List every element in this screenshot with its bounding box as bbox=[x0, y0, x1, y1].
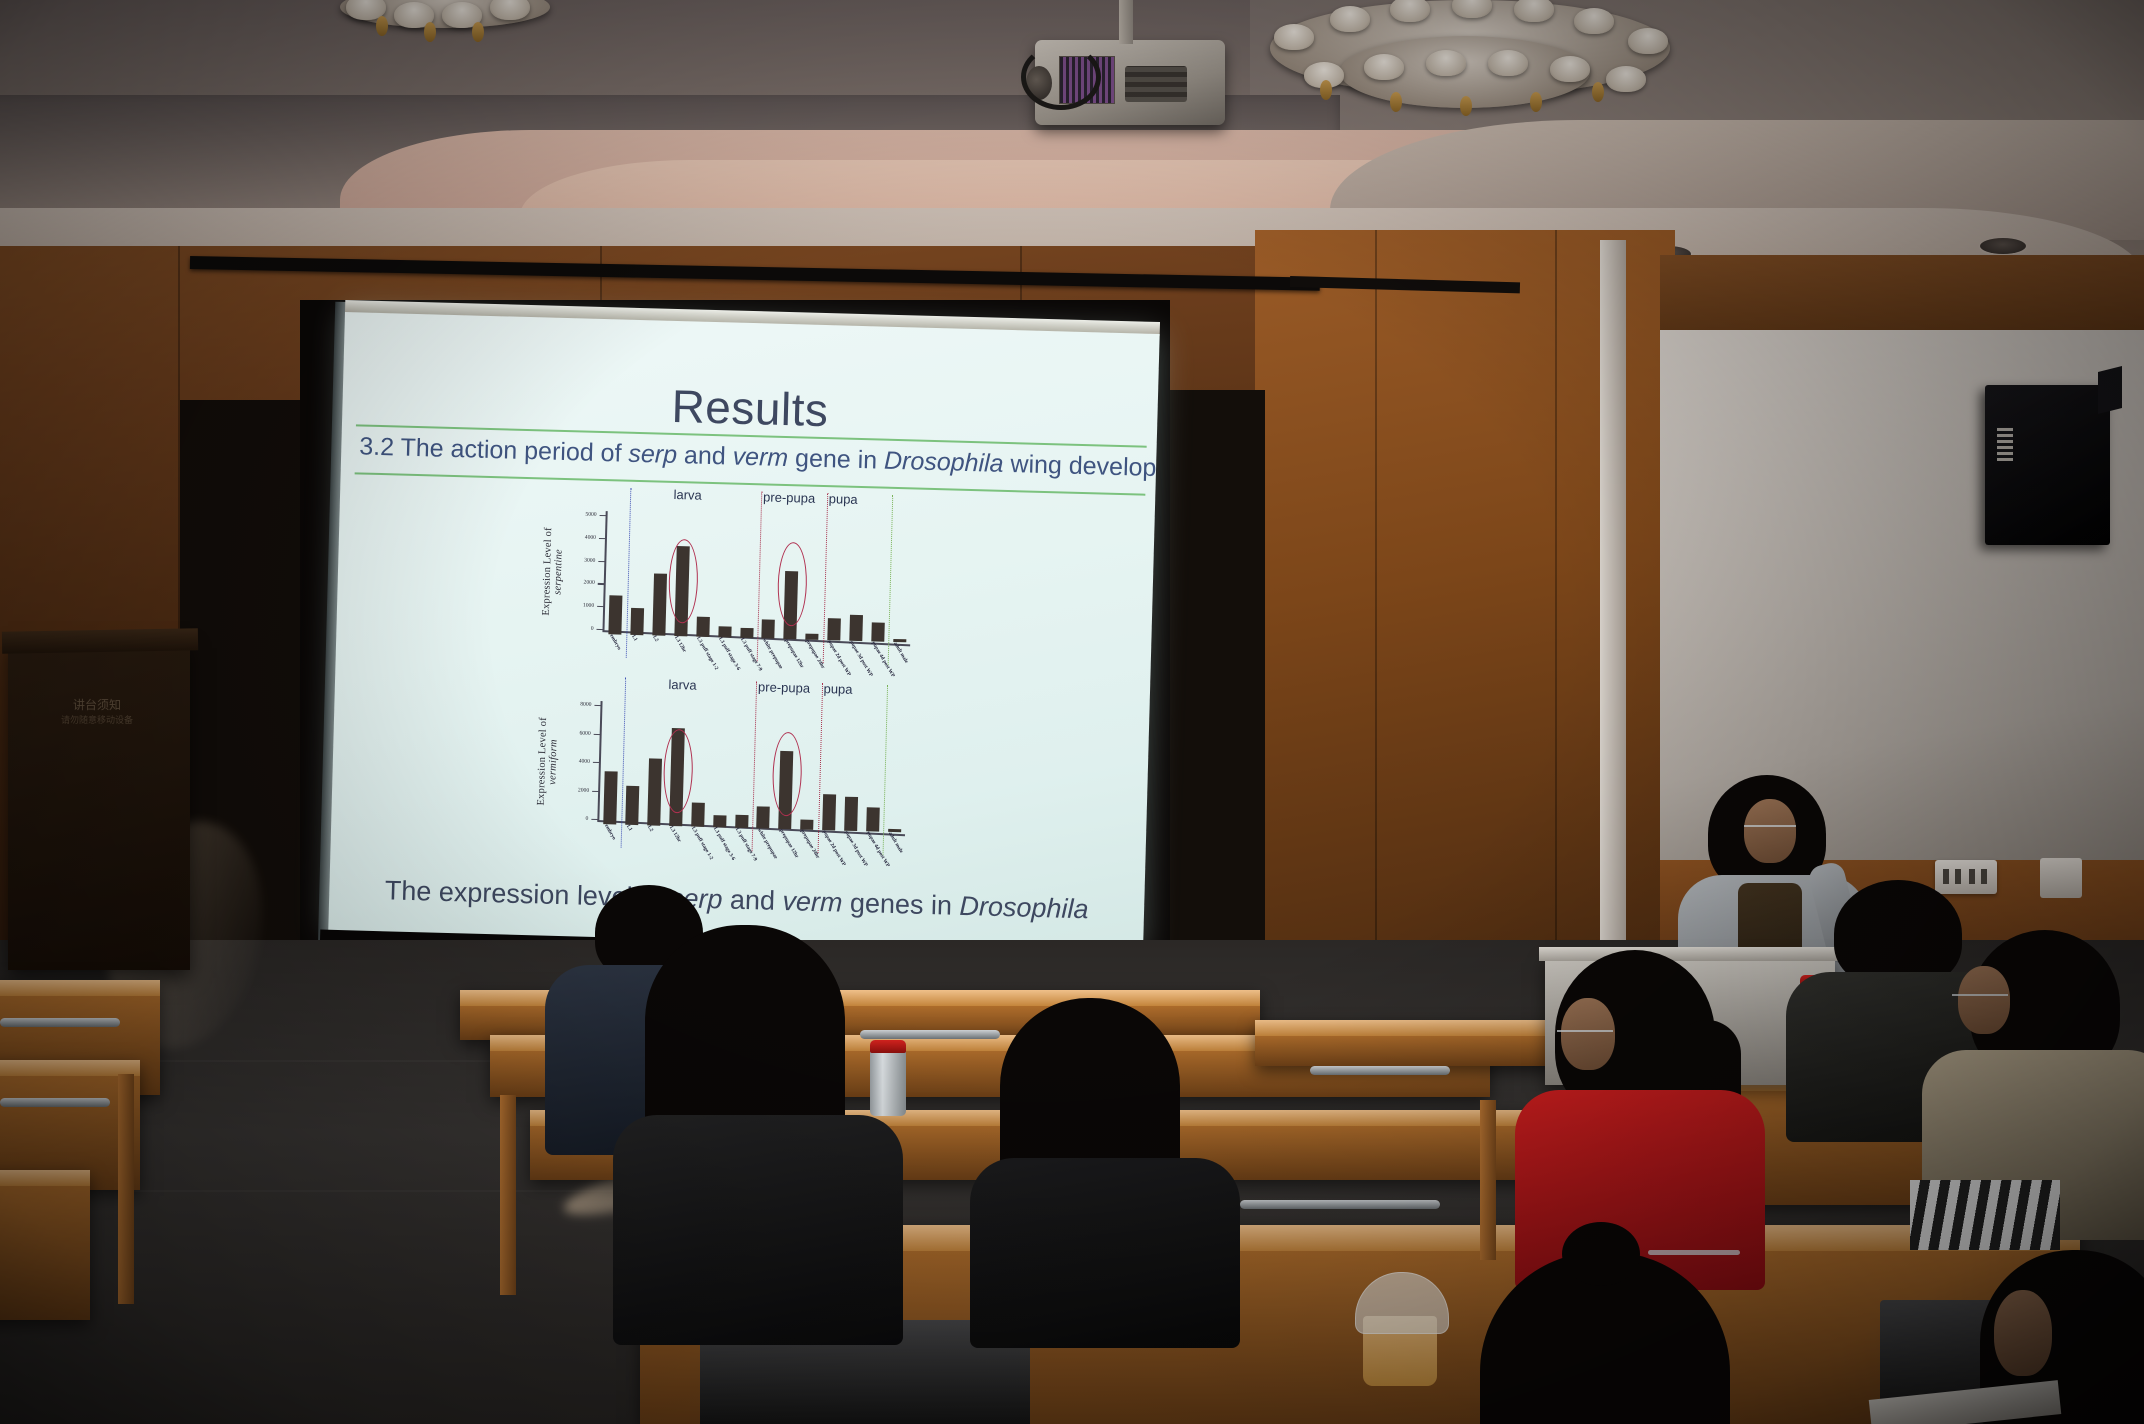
chandelier-arm bbox=[1320, 80, 1332, 100]
projector-cable bbox=[1021, 44, 1101, 110]
projector-ports bbox=[1125, 66, 1187, 102]
chandelier-shade bbox=[1488, 50, 1528, 76]
x-tick-label: pupae 2d post WP bbox=[826, 639, 852, 677]
subtitle-prefix: 3.2 The action period of bbox=[359, 432, 629, 467]
x-tick-label: L3 puff stage 3-6 bbox=[712, 826, 736, 861]
y-tick: 3000 bbox=[598, 561, 605, 562]
caption-suffix: genes in bbox=[842, 888, 960, 921]
chart0-ylabel: Expression Level of serpentine bbox=[540, 505, 562, 637]
y-tick-label: 8000 bbox=[580, 702, 591, 708]
chair-back-rail bbox=[0, 1018, 120, 1027]
chandelier-arm bbox=[1390, 92, 1402, 112]
chandelier-shade bbox=[1628, 28, 1668, 54]
subtitle-suffix: gene in bbox=[788, 444, 885, 475]
lectern-top bbox=[2, 628, 198, 653]
chart-serpentine: Expression Level of serpentine embryoL1L… bbox=[545, 506, 940, 706]
chandelier-arm bbox=[376, 16, 388, 36]
projection-screen: Results 3.2 The action period of serp an… bbox=[328, 312, 1160, 979]
y-tick: 2000 bbox=[592, 790, 599, 791]
x-tick-label: pupae 4d post WP bbox=[870, 640, 896, 678]
chandelier-shade bbox=[1550, 56, 1590, 82]
y-tick: 4000 bbox=[599, 538, 606, 539]
chandelier-shade bbox=[1426, 50, 1466, 76]
x-tick-label: prepupae 12hr bbox=[783, 638, 805, 669]
subtitle-gene-serp: serp bbox=[628, 440, 677, 469]
y-tick-label: 3000 bbox=[584, 557, 595, 563]
audience-face bbox=[1958, 966, 2010, 1034]
x-tick-label: pupae 2d post WP bbox=[821, 829, 847, 867]
subtitle-end: wing development bbox=[1003, 450, 1160, 484]
chart0-plot: embryoL1L2L3 12hrL3 puff stage 1-2L3 puf… bbox=[580, 511, 913, 644]
x-tick-label: L2 bbox=[647, 824, 655, 832]
y-tick-label: 6000 bbox=[579, 730, 590, 736]
wall-speaker bbox=[1985, 385, 2110, 545]
subtitle-gene-verm: verm bbox=[732, 443, 788, 472]
chandelier-arm bbox=[1460, 96, 1472, 116]
stage-label-larva: larva bbox=[668, 677, 697, 693]
caption-mid: and bbox=[722, 884, 783, 916]
chart-vermiform: Expression Level of vermiform embryoL1L2… bbox=[540, 696, 935, 896]
y-tick: 0 bbox=[591, 819, 598, 820]
stage-label-pre-pupa: pre-pupa bbox=[763, 489, 815, 505]
lectern-plaque-sub: 请勿随意移动设备 bbox=[32, 713, 162, 728]
speaker-grille-icon bbox=[1997, 427, 2013, 461]
chandelier-arm bbox=[472, 22, 484, 42]
caption-gene-verm: verm bbox=[782, 886, 843, 918]
y-tick: 4000 bbox=[593, 762, 600, 763]
x-tick-label: L3 puff stage 7-9 bbox=[734, 827, 758, 862]
presenter-face bbox=[1744, 799, 1796, 863]
audience-coat bbox=[970, 1158, 1240, 1348]
chandelier-shade bbox=[1330, 6, 1370, 32]
bar bbox=[625, 786, 639, 826]
x-tick-label: L3 puff stage 1-2 bbox=[695, 636, 719, 671]
audience-hair-bun bbox=[1562, 1222, 1640, 1286]
subtitle-species: Drosophila bbox=[884, 447, 1004, 478]
stage-label-pre-pupa: pre-pupa bbox=[758, 679, 810, 695]
chandelier-shade bbox=[1574, 8, 1614, 34]
wall-outlet-secondary bbox=[2040, 858, 2082, 898]
wall-wood-upper-right bbox=[1660, 255, 2144, 341]
subtitle-mid: and bbox=[677, 441, 733, 470]
x-tick-label: embryo bbox=[603, 823, 617, 841]
x-tick-label: L3 puff stage 3-6 bbox=[717, 636, 741, 671]
y-tick: 6000 bbox=[594, 733, 601, 734]
chandelier-shade bbox=[1514, 0, 1554, 22]
caption-species: Drosophila bbox=[959, 891, 1089, 924]
bar bbox=[647, 758, 662, 826]
desk-row3-left bbox=[0, 1170, 90, 1320]
bar bbox=[822, 794, 836, 831]
chandelier-shade bbox=[1606, 66, 1646, 92]
chandelier-shade bbox=[1364, 54, 1404, 80]
x-tick-label: adult male bbox=[892, 641, 909, 664]
lectern: 讲台须知 请勿随意移动设备 bbox=[8, 640, 190, 970]
chart1-ylabel: Expression Level of vermiform bbox=[535, 695, 557, 827]
chandelier-arm bbox=[424, 22, 436, 42]
plastic-bag bbox=[1355, 1272, 1449, 1334]
y-tick-label: 4000 bbox=[579, 758, 590, 764]
downlight-icon bbox=[1980, 238, 2026, 254]
chandelier-arm bbox=[1530, 92, 1542, 112]
wall-pipe-trim bbox=[1600, 240, 1626, 940]
glasses-icon bbox=[1952, 994, 2008, 996]
chair-back-rail bbox=[0, 1098, 110, 1107]
x-tick-label: white prepupae bbox=[756, 827, 779, 860]
y-tick-label: 0 bbox=[591, 626, 594, 632]
y-tick: 8000 bbox=[594, 705, 601, 706]
audience-face bbox=[1994, 1290, 2052, 1376]
lectern-plaque: 讲台须知 请勿随意移动设备 bbox=[32, 698, 162, 758]
y-tick: 5000 bbox=[600, 515, 607, 516]
glasses-icon bbox=[1648, 1250, 1740, 1255]
y-tick: 1000 bbox=[597, 606, 604, 607]
stage-label-larva: larva bbox=[673, 487, 702, 503]
x-tick-label: pupae 3d post WP bbox=[843, 830, 869, 868]
chandelier-shade bbox=[490, 0, 530, 20]
y-tick: 0 bbox=[596, 629, 603, 630]
lectern-plaque-title: 讲台须知 bbox=[32, 698, 162, 713]
desk-leg bbox=[1480, 1100, 1496, 1260]
y-tick: 2000 bbox=[598, 583, 605, 584]
bar bbox=[604, 771, 619, 825]
thermos-desk bbox=[870, 1040, 906, 1116]
desk-right-back bbox=[1255, 1020, 1555, 1066]
audience-face bbox=[1561, 998, 1615, 1070]
x-tick-label: L3 12hr bbox=[674, 635, 688, 653]
takeaway-cup-bag bbox=[1355, 1272, 1455, 1402]
glasses-icon bbox=[1557, 1030, 1613, 1032]
glasses-icon bbox=[1744, 825, 1796, 827]
slide: Results 3.2 The action period of serp an… bbox=[328, 312, 1159, 954]
x-tick-label: pupae 4d post WP bbox=[865, 830, 891, 868]
chart1-ylabel-italic: vermiform bbox=[547, 739, 559, 785]
speaker-bracket bbox=[2098, 366, 2122, 414]
x-tick-label: L3 puff stage 7-9 bbox=[739, 637, 763, 672]
chart0-ylabel-italic: serpentine bbox=[552, 549, 564, 595]
desk-leg bbox=[118, 1074, 134, 1304]
chair-back-rail bbox=[860, 1030, 1000, 1039]
x-tick-label: adult male bbox=[887, 831, 904, 854]
y-tick-label: 2000 bbox=[583, 580, 594, 586]
wall-outlet bbox=[1935, 860, 1997, 894]
y-tick-label: 2000 bbox=[578, 787, 589, 793]
y-tick-label: 4000 bbox=[585, 534, 596, 540]
bar bbox=[609, 595, 623, 635]
chair-back-rail bbox=[1240, 1200, 1440, 1209]
y-tick-label: 0 bbox=[586, 816, 589, 822]
chart1-plot: embryoL1L2L3 12hrL3 puff stage 1-2L3 puf… bbox=[575, 700, 908, 833]
x-tick-label: prepupae 12hr bbox=[778, 828, 800, 859]
x-tick-label: white prepupae bbox=[761, 638, 784, 671]
stage-label-pupa: pupa bbox=[823, 681, 852, 697]
audience-striped-garment bbox=[1910, 1180, 2060, 1250]
x-tick-label: pupae 3d post WP bbox=[848, 640, 874, 678]
x-tick-label: L1 bbox=[625, 824, 633, 832]
x-tick-label: L3 12hr bbox=[668, 825, 682, 843]
x-tick-label: embryo bbox=[608, 633, 622, 651]
ceiling-projector bbox=[1035, 40, 1225, 125]
chandelier-arm bbox=[1592, 82, 1604, 102]
chandelier-shade bbox=[1274, 24, 1314, 50]
y-tick-label: 5000 bbox=[585, 512, 596, 518]
x-tick-label: L1 bbox=[630, 634, 638, 642]
stage-label-pupa: pupa bbox=[829, 491, 858, 507]
lecture-hall-photo: Results 3.2 The action period of serp an… bbox=[0, 0, 2144, 1424]
bar bbox=[844, 796, 858, 831]
projector-mount bbox=[1119, 0, 1133, 44]
screen-surface: Results 3.2 The action period of serp an… bbox=[328, 312, 1159, 954]
y-tick-label: 1000 bbox=[583, 603, 594, 609]
audience-coat bbox=[613, 1115, 903, 1345]
x-tick-label: L2 bbox=[652, 635, 660, 643]
desk-leg bbox=[500, 1095, 516, 1295]
x-tick-label: L3 puff stage 1-2 bbox=[690, 826, 714, 861]
chandelier-shade bbox=[1390, 0, 1430, 22]
chair-back-rail bbox=[1310, 1066, 1450, 1075]
bar bbox=[652, 574, 667, 636]
